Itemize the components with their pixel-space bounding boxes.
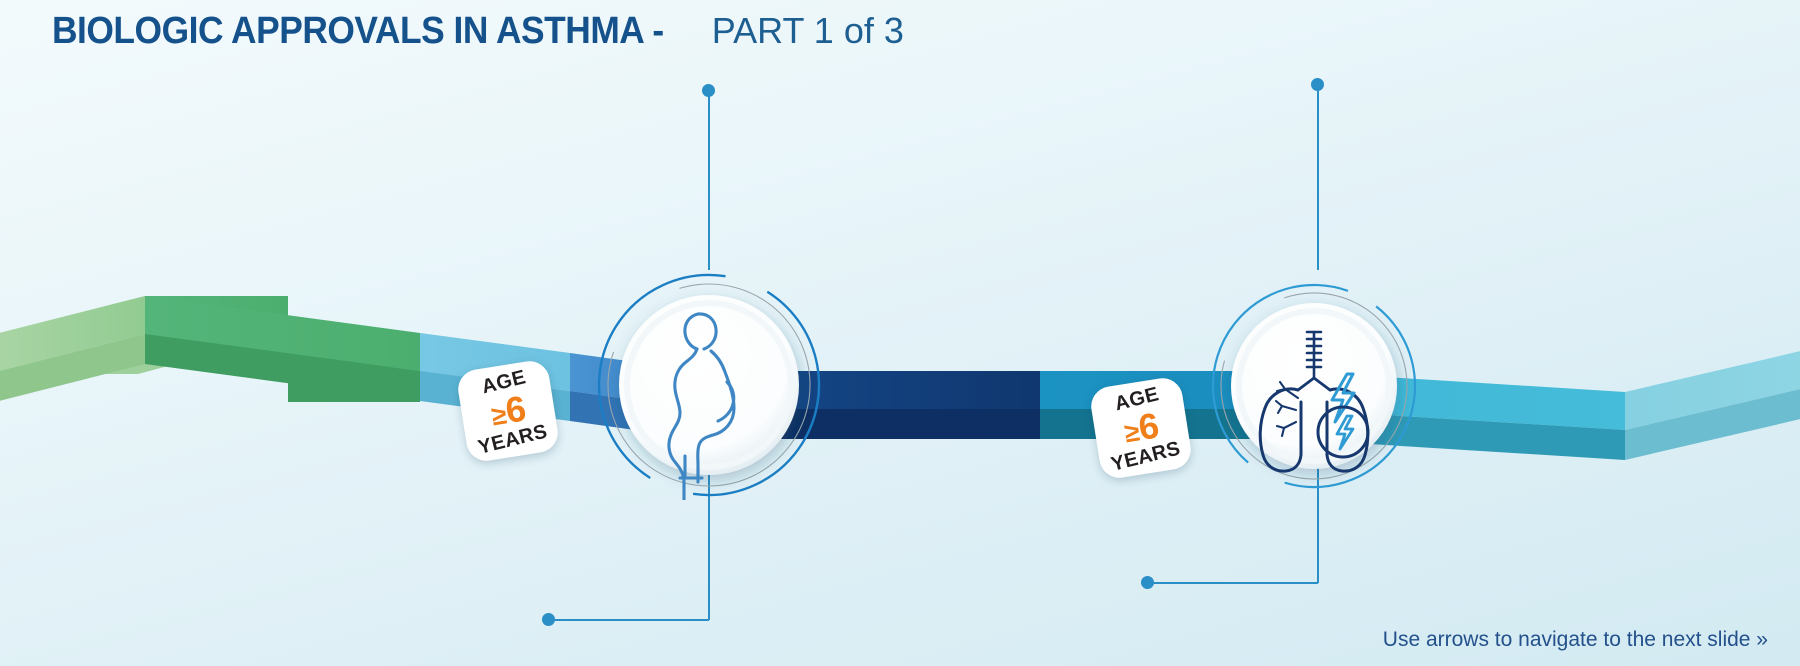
age-badge-2015: AGE ≥6 YEARS — [1088, 375, 1193, 480]
next-slide-hint[interactable]: Use arrows to navigate to the next slide… — [1383, 628, 1768, 652]
medallion-disc-2003 — [619, 295, 799, 475]
connector-dot-bottom-2015 — [1141, 576, 1154, 589]
ribbon-band — [0, 296, 1800, 460]
connector-line-2003-foot — [548, 619, 709, 621]
infographic-slide: BIOLOGIC APPROVALS IN ASTHMA - PART 1 of… — [0, 0, 1800, 666]
medallion-2003[interactable] — [594, 270, 824, 500]
medallion-2015[interactable] — [1208, 280, 1420, 492]
age-badge-2003: AGE ≥6 YEARS — [455, 358, 560, 463]
connector-line-2015-foot — [1147, 582, 1318, 584]
timeline-ribbon — [0, 0, 1800, 666]
connector-line-2003-top — [708, 92, 710, 270]
connector-dot-bottom-2003 — [542, 613, 555, 626]
medallion-disc-2015 — [1231, 303, 1397, 469]
connector-line-2015-top — [1317, 86, 1319, 270]
